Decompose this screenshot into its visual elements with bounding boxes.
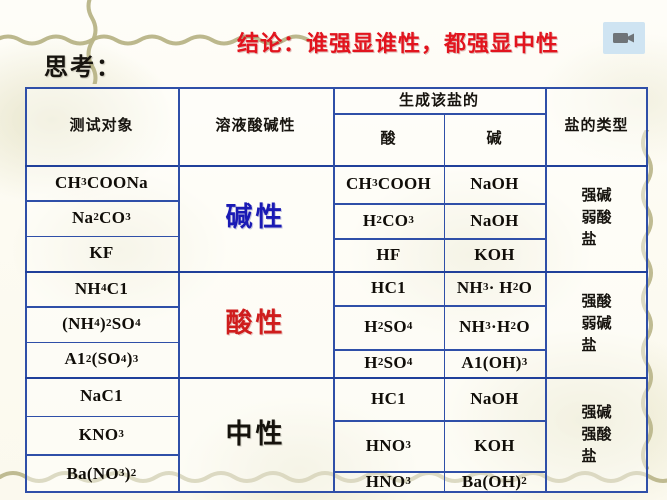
cell-acid: HC1 [333, 377, 444, 420]
cell-base: NaOH [444, 165, 545, 203]
header-sub-base: 碱 [444, 113, 545, 165]
salt-type-1: 强酸弱碱盐 [545, 271, 648, 377]
salt-hydrolysis-table: 测试对象溶液酸碱性生成该盐的酸碱盐的类型碱性强碱弱酸盐CH3COONaNa2CO… [25, 87, 648, 493]
cell-base: NH3·H2O [444, 305, 545, 349]
cell-acid: CH3COOH [333, 165, 444, 203]
cell-acid: H2SO4 [333, 305, 444, 349]
video-camera-icon[interactable] [603, 22, 645, 54]
salt-type-text: 强碱强酸盐 [581, 402, 611, 467]
cell-base: NaOH [444, 377, 545, 420]
cell-subject: (NH4)2SO4 [25, 306, 178, 341]
header-solution-ph: 溶液酸碱性 [178, 87, 333, 165]
header-sub-acid: 酸 [333, 113, 444, 165]
page-title: 思考： [44, 47, 122, 82]
cell-acid: H2CO3 [333, 203, 444, 238]
ph-label-acidic: 酸性 [178, 271, 333, 377]
cell-subject: NaC1 [25, 377, 178, 416]
cell-subject: Na2CO3 [25, 200, 178, 235]
table-row-divider [333, 113, 545, 115]
header-test-subject: 测试对象 [25, 87, 178, 165]
cell-subject: CH3COONa [25, 165, 178, 200]
cell-base: NaOH [444, 203, 545, 238]
cell-subject: KF [25, 236, 178, 271]
cell-subject: A12(SO4)3 [25, 342, 178, 377]
cell-acid: H2SO4 [333, 349, 444, 377]
header-forming-salt-group: 生成该盐的 [333, 87, 545, 115]
cell-base: Ba(OH)2 [444, 471, 545, 493]
salt-type-0: 强碱弱酸盐 [545, 165, 648, 271]
cell-subject: KNO3 [25, 416, 178, 455]
ph-label-neutral: 中性 [178, 377, 333, 493]
salt-type-text: 强酸弱碱盐 [581, 291, 611, 356]
conclusion-banner: 结论：谁强显谁性，都强显中性 [208, 26, 588, 58]
cell-acid: HC1 [333, 271, 444, 305]
cell-acid: HNO3 [333, 420, 444, 471]
header-salt-type: 盐的类型 [545, 87, 648, 165]
cell-subject: Ba(NO3)2 [25, 454, 178, 493]
cell-base: A1(OH)3 [444, 349, 545, 377]
ph-label-alkaline: 碱性 [178, 165, 333, 271]
cell-base: KOH [444, 420, 545, 471]
cell-acid: HF [333, 238, 444, 271]
salt-type-2: 强碱强酸盐 [545, 377, 648, 493]
cell-base: KOH [444, 238, 545, 271]
cell-base: NH3 · H2O [444, 271, 545, 305]
cell-subject: NH4C1 [25, 271, 178, 306]
cell-acid: HNO3 [333, 471, 444, 493]
salt-type-text: 强碱弱酸盐 [581, 185, 611, 250]
